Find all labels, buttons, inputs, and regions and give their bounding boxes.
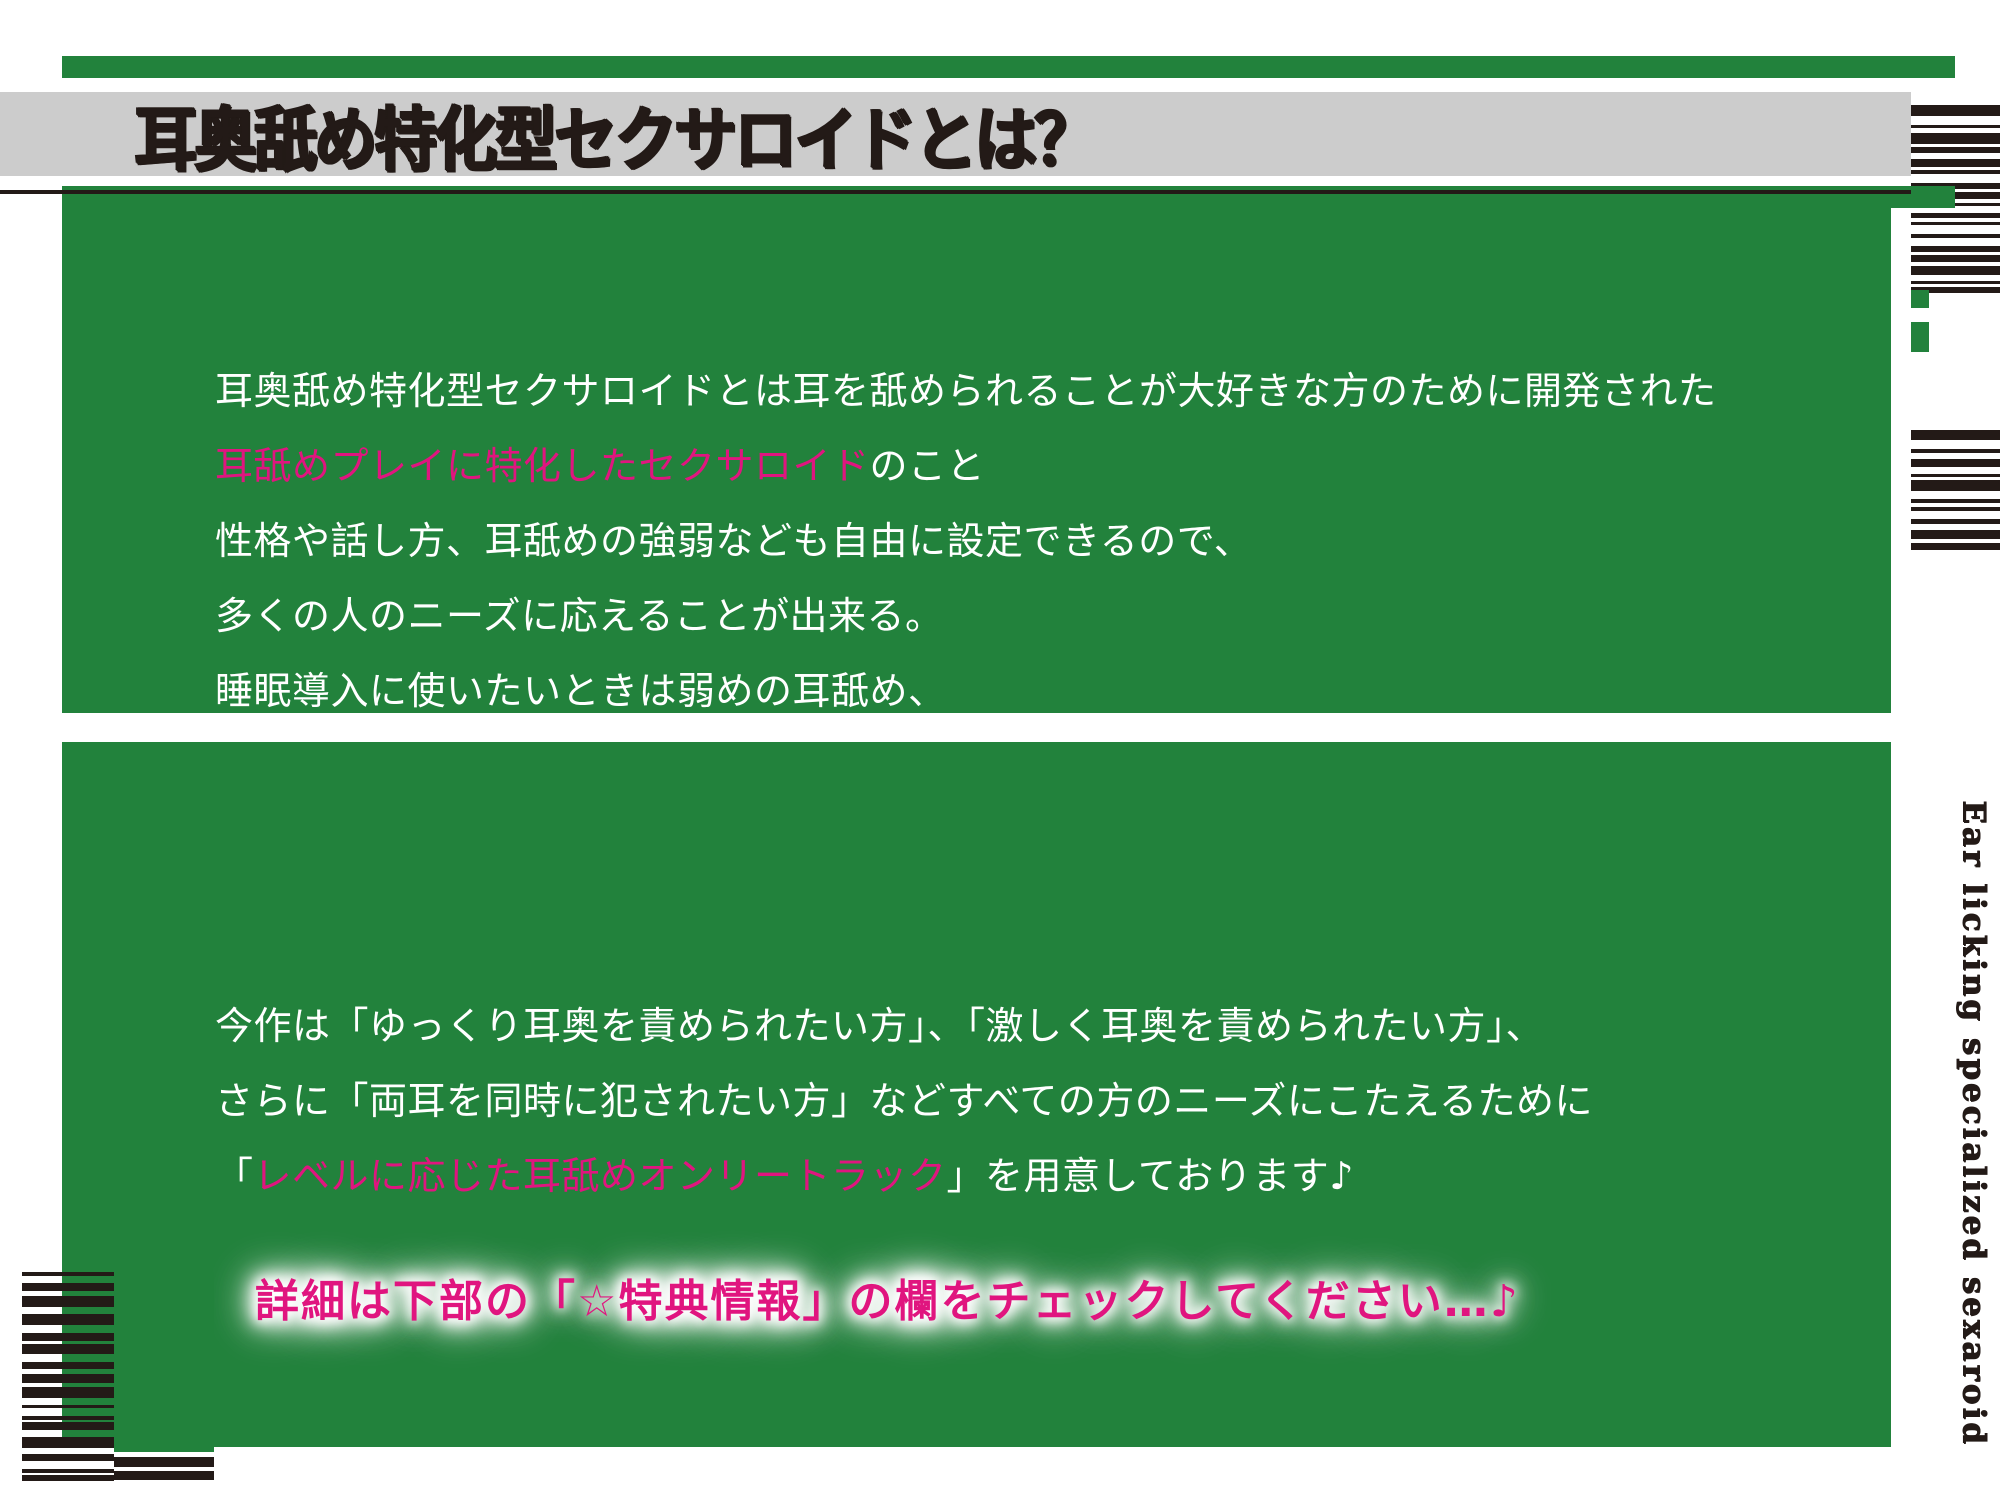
stripe-bar (22, 1333, 114, 1341)
stripe-bar (1911, 222, 2000, 225)
callout-bonus-info: 詳細は下部の「☆特典情報」の欄をチェックしてください…♪ (255, 1265, 1520, 1329)
green-fleck-4 (1911, 322, 1929, 352)
stripe-bar (1911, 255, 2000, 262)
green-fleck-2 (1911, 186, 1955, 208)
panel-2-line-2-seg-1: さらに「両耳を同時に犯されたい方」などすべての方のニーズにこたえるために (215, 1079, 1593, 1123)
panel-1-line-5-seg-1: 睡眠導入に使いたいときは弱めの耳舐め、 (215, 669, 947, 713)
stripe-bar (1911, 147, 2000, 153)
panel-1-line-4: 多くの人のニーズに応えることが出来る。 (215, 585, 1717, 640)
stripe-bar (114, 1457, 214, 1467)
vertical-caption: Ear licking specialized sexaroid (1922, 800, 1992, 1447)
panel-2-text-block: 今作は「ゆっくり耳奥を責められたい方」、「激しく耳奥を責められたい方」、 さらに… (215, 995, 1593, 1220)
stripe-bar (1911, 234, 2000, 238)
green-fleck-5 (114, 1272, 214, 1452)
stripe-bar (1911, 281, 2000, 284)
panel-1-line-1-seg-1: 耳奥舐め特化型セクサロイドとは耳を舐められることが大好きな方のために開発された (215, 369, 1717, 413)
panel-2-line-1-seg-1: 今作は「ゆっくり耳奥を責められたい方」、「激しく耳奥を責められたい方」、 (215, 1004, 1544, 1048)
stripe-bar (22, 1387, 114, 1398)
stripe-bar (22, 1454, 114, 1461)
panel-1-line-1: 耳奥舐め特化型セクサロイドとは耳を舐められることが大好きな方のために開発された (215, 360, 1717, 415)
stripe-bar (22, 1296, 114, 1307)
rule-horizontal-top (0, 190, 1933, 194)
stripe-bar (1911, 507, 2000, 511)
stripe-bar (1911, 449, 2000, 453)
stripe-bar (1911, 105, 2000, 116)
stripe-bar (22, 1422, 114, 1430)
barcode-stripes-mid-right (1911, 430, 2000, 550)
stripe-bar (22, 1374, 114, 1383)
stripe-bar (22, 1416, 114, 1420)
stripe-bar (22, 1437, 114, 1448)
stripe-bar (22, 1405, 114, 1408)
panel-1-line-2-seg-1: 耳舐めプレイに特化したセクサロイド (215, 444, 870, 488)
stripe-bar (22, 1469, 114, 1473)
green-fleck-3 (1911, 290, 1929, 308)
stripe-bar (1911, 459, 2000, 467)
panel-2-line-3-seg-3: 」を用意しております♪ (947, 1154, 1354, 1198)
panel-2-line-1: 今作は「ゆっくり耳奥を責められたい方」、「激しく耳奥を責められたい方」、 (215, 995, 1593, 1050)
stripe-bar (1911, 474, 2000, 477)
panel-1-line-3: 性格や話し方、耳舐めの強弱なども自由に設定できるので、 (215, 510, 1717, 565)
panel-2-line-3: 「レベルに応じた耳舐めオンリートラック」を用意しております♪ (215, 1145, 1593, 1200)
stripe-bar (1911, 133, 2000, 144)
stripe-bar (1911, 125, 2000, 128)
stripe-bar (1911, 246, 2000, 252)
stripe-bar (1911, 213, 2000, 218)
stripe-bar (22, 1344, 114, 1354)
barcode-stripes-bottom-left (22, 1272, 114, 1494)
stripe-bar (22, 1272, 114, 1276)
stripe-bar (1911, 266, 2000, 275)
stripe-bar (1911, 543, 2000, 550)
stripe-bar (22, 1475, 114, 1481)
stripe-bar (1911, 530, 2000, 539)
panel-1-line-4-seg-1: 多くの人のニーズに応えることが出来る。 (215, 594, 943, 638)
stripe-bar (22, 1314, 114, 1325)
stripe-bar (1911, 519, 2000, 524)
stripe-bar (114, 1471, 214, 1480)
panel-2-line-3-seg-1: 「 (215, 1154, 254, 1198)
top-accent-bar (62, 56, 1955, 78)
stripe-bar (1911, 480, 2000, 491)
green-fleck-1 (1911, 56, 1955, 78)
stripe-bar (1911, 170, 2000, 174)
panel-2-line-2: さらに「両耳を同時に犯されたい方」などすべての方のニーズにこたえるために (215, 1070, 1593, 1125)
page-title: 耳奥舐め特化型セクサロイドとは？ (135, 87, 1535, 181)
stripe-bar (22, 1362, 114, 1369)
stripe-bar (1911, 430, 2000, 440)
panel-1-line-5: 睡眠導入に使いたいときは弱めの耳舐め、 (215, 660, 1717, 715)
panel-2-line-3-seg-2: レベルに応じた耳舐めオンリートラック (254, 1154, 947, 1198)
panel-1-line-3-seg-1: 性格や話し方、耳舐めの強弱なども自由に設定できるので、 (215, 519, 1252, 563)
stripe-bar (1911, 159, 2000, 167)
panel-1-line-2: 耳舐めプレイに特化したセクサロイドのこと (215, 435, 1717, 490)
stripe-bar (22, 1283, 114, 1291)
panel-1-line-2-seg-2: のこと (870, 444, 986, 488)
stripe-bar (1911, 499, 2000, 503)
